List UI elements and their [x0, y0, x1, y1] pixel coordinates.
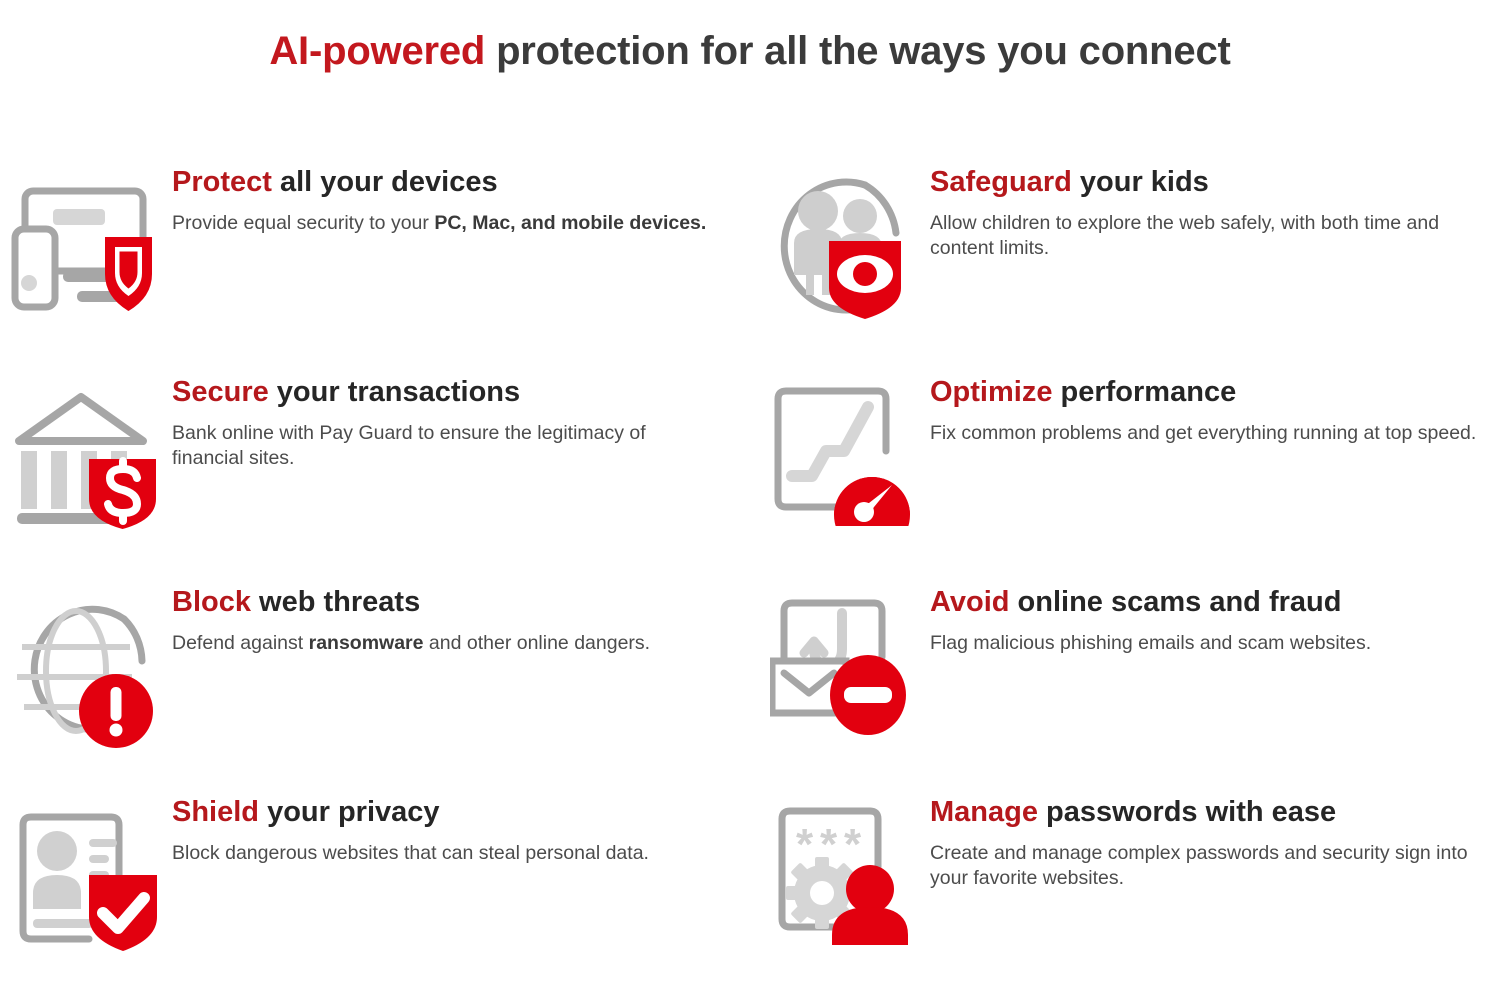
feature-avoid-scams: Avoid online scams and fraud Flag malici… [0, 577, 1500, 787]
phishing-mail-block-icon [760, 577, 930, 742]
feature-text: Optimize performance Fix common problems… [930, 367, 1490, 446]
chart-speedometer-icon [760, 367, 930, 532]
feature-grid-page: AI-powered protection for all the ways y… [0, 27, 1500, 967]
feature-title-rest: performance [1052, 376, 1236, 408]
svg-text:*: * [796, 820, 814, 869]
feature-title-rest: passwords with ease [1038, 796, 1336, 828]
feature-text: Manage passwords with ease Create and ma… [930, 787, 1490, 891]
feature-manage-passwords: * * * [0, 787, 1500, 997]
feature-description: Flag malicious phishing emails and scam … [930, 631, 1490, 656]
feature-description: Create and manage complex passwords and … [930, 841, 1490, 891]
svg-text:*: * [844, 820, 862, 869]
feature-title-accent: Manage [930, 796, 1038, 828]
feature-title-accent: Safeguard [930, 166, 1072, 198]
feature-description: Allow children to explore the web safely… [930, 211, 1490, 261]
page-title-accent: AI-powered [269, 29, 485, 73]
feature-title: Manage passwords with ease [930, 795, 1490, 829]
feature-title-rest: your kids [1072, 166, 1209, 198]
feature-title: Optimize performance [930, 375, 1490, 409]
feature-title: Avoid online scams and fraud [930, 585, 1490, 619]
feature-title: Safeguard your kids [930, 165, 1490, 199]
feature-safeguard-kids: Safeguard your kids Allow children to ex… [0, 157, 1500, 367]
page-title: AI-powered protection for all the ways y… [0, 27, 1500, 74]
feature-text: Safeguard your kids Allow children to ex… [930, 157, 1490, 261]
features-grid: Protect all your devices Provide equal s… [0, 157, 1500, 997]
password-gear-user-icon: * * * [760, 787, 930, 952]
family-eye-shield-icon [760, 157, 930, 322]
feature-title-rest: online scams and fraud [1009, 586, 1341, 618]
feature-description: Fix common problems and get everything r… [930, 421, 1490, 446]
feature-title-accent: Avoid [930, 586, 1009, 618]
feature-text: Avoid online scams and fraud Flag malici… [930, 577, 1490, 656]
page-title-rest: protection for all the ways you connect [485, 29, 1230, 73]
feature-optimize-performance: Optimize performance Fix common problems… [0, 367, 1500, 577]
feature-title-accent: Optimize [930, 376, 1052, 408]
